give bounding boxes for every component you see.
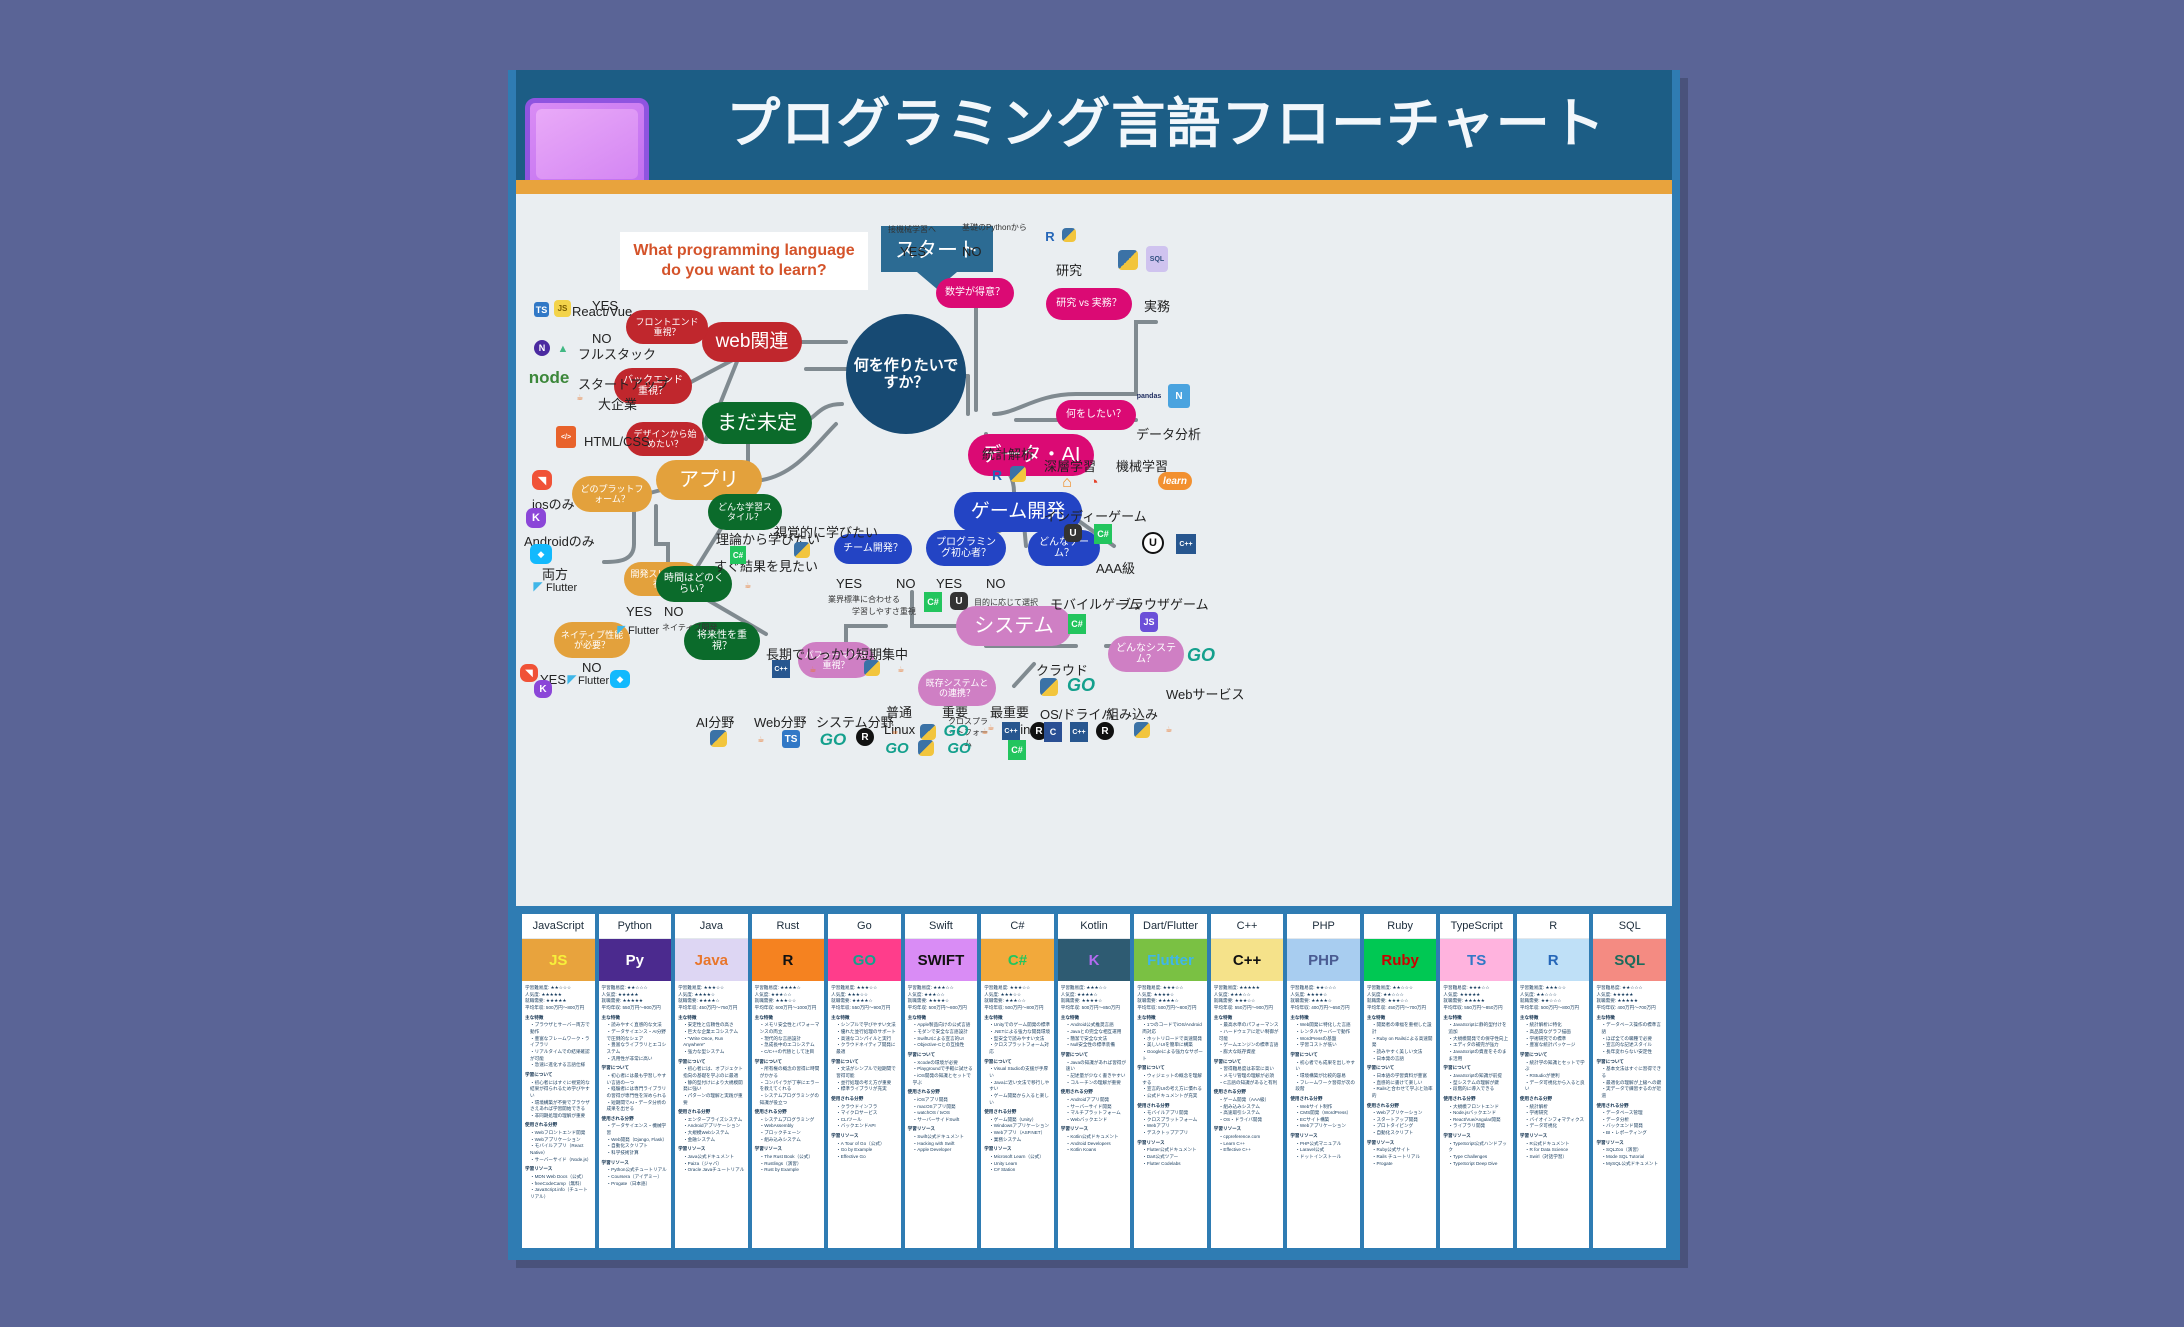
card-section-title: 主な特徴 <box>1596 1015 1663 1022</box>
language-card[interactable]: Dart/FlutterFlutter学習難易度: ★★★☆☆人気度: ★★★★… <box>1134 914 1207 1248</box>
card-list-item: Javaとの完全な相互運用 <box>1066 1029 1128 1036</box>
question-learning-style[interactable]: どんな学習スタイル？ <box>708 494 782 530</box>
card-section-title: 学習リソース <box>984 1146 1051 1153</box>
sql-icon-practice: SQL <box>1146 246 1168 272</box>
cpp-icon-aaa: C++ <box>1176 534 1196 554</box>
language-card-body: 学習難易度: ★★★☆☆人気度: ★★★★★就職需要: ★★★★★平均年収: 5… <box>1440 981 1513 1248</box>
stat-line: 平均年収: 450万円〜750万円 <box>678 1005 745 1012</box>
card-list-item: 習得難易度は非常に高い <box>1219 1066 1281 1073</box>
card-section-list: Swift公式ドキュメントHacking with SwiftApple Dev… <box>908 1134 975 1154</box>
stat-line: 平均年収: 500万円〜850万円 <box>1061 1005 1128 1012</box>
card-section-title: 使用される分野 <box>1367 1103 1434 1110</box>
card-section-title: 主な特徴 <box>602 1015 669 1022</box>
card-list-item: Web開発に特化した言語 <box>1295 1022 1357 1029</box>
language-card[interactable]: RR学習難易度: ★★★☆☆人気度: ★★☆☆☆就職需要: ★★☆☆☆平均年収:… <box>1517 914 1590 1248</box>
card-list-item: Apple Developer <box>913 1147 975 1154</box>
card-section-list: Apple製品向けの公式言語モダンで安全な言語設計SwiftUIによる宣言的UI… <box>908 1022 975 1049</box>
card-list-item: Unityでのゲーム開発の標準 <box>989 1022 1051 1029</box>
go-icon-web-service: GO <box>1184 646 1218 664</box>
card-list-item: Effective C++ <box>1219 1147 1281 1154</box>
stat-line: 平均年収: 550万円〜850万円 <box>1443 1005 1510 1012</box>
kotlin-icon-native: K <box>534 680 552 698</box>
card-list-item: freeCodeCamp（無料） <box>530 1181 592 1188</box>
stat-line: 学習難易度: ★★★☆☆ <box>908 985 975 992</box>
go-icon-system-field: GO <box>816 732 850 748</box>
language-card-body: 学習難易度: ★★★★★人気度: ★★★☆☆就職需要: ★★★☆☆平均年収: 5… <box>1211 981 1284 1248</box>
card-section-list: データベース管理データ分析バックエンド開発BI・レポーティング <box>1596 1110 1663 1137</box>
javascript-icon-browser: JS <box>1140 612 1158 632</box>
stat-line: 就職需要: ★★★☆☆ <box>1214 998 1281 1005</box>
label-no-speed: NO <box>664 604 684 619</box>
language-card[interactable]: C#C#学習難易度: ★★★☆☆人気度: ★★★☆☆就職需要: ★★★☆☆平均年… <box>981 914 1054 1248</box>
card-list-item: クラウドネイティブ開発に最適 <box>836 1042 898 1055</box>
language-card[interactable]: C++C++学習難易度: ★★★★★人気度: ★★★☆☆就職需要: ★★★☆☆平… <box>1211 914 1284 1248</box>
stat-line: 就職需要: ★★★★★ <box>1596 998 1663 1005</box>
card-list-item: Hacking with Swift <box>913 1141 975 1148</box>
card-list-item: 基本文法はすぐに習得できる <box>1601 1066 1663 1079</box>
branch-web[interactable]: web関連 <box>702 322 802 362</box>
card-section-title: 学習リソース <box>755 1146 822 1153</box>
card-section-title: 学習について <box>1290 1052 1357 1059</box>
card-list-item: 宣言的な記述スタイル <box>1601 1042 1663 1049</box>
card-list-item: クロスプラットフォーム <box>1142 1117 1204 1124</box>
card-list-item: 高速取引システム <box>1219 1110 1281 1117</box>
card-list-item: Progate <box>1372 1161 1434 1168</box>
language-card[interactable]: SwiftSWIFT学習難易度: ★★★☆☆人気度: ★★★☆☆就職需要: ★★… <box>905 914 978 1248</box>
typescript-icon-web-field: TS <box>782 730 800 748</box>
card-list-item: シンプルで学びやすい文法 <box>836 1022 898 1029</box>
card-section-title: 使用される分野 <box>602 1116 669 1123</box>
card-section-title: 使用される分野 <box>1443 1096 1510 1103</box>
card-section-title: 学習について <box>908 1052 975 1059</box>
card-list-item: マイクロサービス <box>836 1110 898 1117</box>
card-list-item: 読みやすく美しい文法 <box>1372 1049 1434 1056</box>
stat-line: 就職需要: ★★★★☆ <box>1137 998 1204 1005</box>
java-icon-short: ☕ <box>892 658 910 680</box>
card-list-item: 日本語の学習資料が豊富 <box>1372 1073 1434 1080</box>
card-list-item: 短期間でAI・データ分析の成果を出せる <box>607 1100 669 1113</box>
csharp-icon-mobile: C# <box>1068 614 1086 634</box>
swift-icon-ios: ◥ <box>532 470 552 490</box>
card-section-list: 初心者には、オブジェクト指向の基礎を学ぶのに最適静的型付けにより大規模開発に強い… <box>678 1066 745 1106</box>
language-card[interactable]: TypeScriptTS学習難易度: ★★★☆☆人気度: ★★★★★就職需要: … <box>1440 914 1513 1248</box>
language-card-title: SQL <box>1593 914 1666 939</box>
label-flutter-native: Flutter <box>578 675 609 687</box>
card-list-item: A Tour of Go（公式） <box>836 1141 898 1148</box>
card-list-item: Webバックエンド <box>1066 1117 1128 1124</box>
card-section-title: 学習について <box>1596 1059 1663 1066</box>
question-frontend[interactable]: フロントエンド重視？ <box>626 310 708 344</box>
card-section-list: Webフロントエンド開発Webアプリケーションモバイルアプリ（React Nat… <box>525 1130 592 1163</box>
card-list-item: 急速に進化する言語仕様 <box>530 1062 592 1069</box>
card-list-item: ハードウェアに近い制御が可能 <box>1219 1029 1281 1042</box>
stat-line: 平均年収: 550万円〜900万円 <box>831 1005 898 1012</box>
card-list-item: ブロックチェーン <box>760 1130 822 1137</box>
language-card[interactable]: GoGO学習難易度: ★★★☆☆人気度: ★★★☆☆就職需要: ★★★★☆平均年… <box>828 914 901 1248</box>
card-section-title: 学習リソース <box>1367 1140 1434 1147</box>
card-section-list: データベース操作の標準言語ほぼ全ての職種で必要宣言的な記述スタイル長年変わらない… <box>1596 1022 1663 1055</box>
card-section-list: Webサイト制作CMS開発（WordPress）ECサイト構築Webアプリケーシ… <box>1290 1104 1357 1131</box>
language-card[interactable]: PythonPy学習難易度: ★★☆☆☆人気度: ★★★★★就職需要: ★★★★… <box>599 914 672 1248</box>
card-list-item: 経験者には専門ライブラリの習得が専門性を深められる <box>607 1086 669 1099</box>
card-list-item: データ可視化から入ると良い <box>1525 1080 1587 1093</box>
java-icon-long: ☕ <box>804 658 822 680</box>
card-section-list: 統計学の知識とセットで学ぶRStudioが便利データ可視化から入ると良い <box>1520 1060 1587 1093</box>
card-section-list: 統計解析学術研究バイオインフォマティクスデータ可視化 <box>1520 1104 1587 1131</box>
label-yes-beginner: YES <box>936 576 962 591</box>
stat-line: 就職需要: ★★★★☆ <box>1290 998 1357 1005</box>
card-section-list: Android公式推奨言語Javaとの完全な相互運用簡潔で安全な文法Null安全… <box>1061 1022 1128 1049</box>
card-list-item: C# Station <box>989 1167 1051 1174</box>
language-logo-icon: GO <box>828 939 901 981</box>
card-list-item: ウィジェットの概念を理解する <box>1142 1073 1204 1086</box>
card-list-item: Windowsアプリケーション <box>989 1123 1051 1130</box>
card-list-item: リアルタイムでの結果確認が可能 <box>530 1049 592 1062</box>
pytorch-icon: ◔ <box>1086 474 1102 490</box>
card-section-list: Kotlin公式ドキュメントAndroid DevelopersKotlin K… <box>1061 1134 1128 1154</box>
language-card-title: Go <box>828 914 901 939</box>
card-section-title: 学習について <box>1367 1065 1434 1072</box>
card-section-title: 主な特徴 <box>1520 1015 1587 1022</box>
label-fullstack: フルスタック <box>578 344 656 363</box>
card-list-item: C言語の知識があると有利 <box>1219 1080 1281 1087</box>
card-section-list: システムプログラミングWebAssemblyブロックチェーン組み込みシステム <box>755 1117 822 1144</box>
cpp-icon-most: C++ <box>1002 722 1020 740</box>
card-list-item: Railsと合わせて学ぶと効率的 <box>1372 1086 1434 1099</box>
card-section-title: 使用される分野 <box>1596 1103 1663 1110</box>
page-title: プログラミング言語フローチャート <box>686 92 1646 156</box>
root-node[interactable]: 何を作りたいですか？ <box>846 314 966 434</box>
card-list-item: Webアプリケーション <box>1372 1110 1434 1117</box>
language-card[interactable]: RubyRuby学習難易度: ★★☆☆☆人気度: ★★☆☆☆就職需要: ★★★☆… <box>1364 914 1437 1248</box>
card-section-list: 日本語の学習資料が豊富直感的に書けて楽しいRailsと合わせて学ぶと効率的 <box>1367 1073 1434 1100</box>
stat-line: 平均年収: 500万円〜800万円 <box>1137 1005 1204 1012</box>
card-list-item: Node.jsバックエンド <box>1448 1110 1510 1117</box>
label-normal: 普通 <box>886 702 912 721</box>
flutter-icon-dev-speed: ◤ <box>616 624 627 635</box>
card-list-item: 記述量が少なく書きやすい <box>1066 1073 1128 1080</box>
intro-line-1: What programming language <box>633 242 854 259</box>
card-list-item: Javaの知識があれば習得が速い <box>1066 1060 1128 1073</box>
card-section-title: 学習について <box>1443 1065 1510 1072</box>
card-list-item: Microsoft Learn（公式） <box>989 1154 1051 1161</box>
card-list-item: データサイエンス・AI分野で圧倒的なシェア <box>607 1029 669 1042</box>
stat-line: 学習難易度: ★★★★☆ <box>755 985 822 992</box>
card-list-item: Progate（日本語） <box>607 1181 669 1188</box>
card-list-item: 読みやすく直感的な文法 <box>607 1022 669 1029</box>
card-list-item: ゲームエンジンの標準言語 <box>1219 1042 1281 1049</box>
card-list-item: 優れた並行処理のサポート <box>836 1029 898 1036</box>
card-list-item: 強力な型システム <box>683 1049 745 1056</box>
card-list-item: 環境構築が比較的容易 <box>1295 1073 1357 1080</box>
question-math[interactable]: 数学が得意？ <box>936 278 1014 308</box>
card-list-item: Webアプリ（ASP.NET） <box>989 1130 1051 1137</box>
card-section-title: 使用される分野 <box>678 1109 745 1116</box>
card-section-title: 使用される分野 <box>831 1096 898 1103</box>
card-list-item: マルチプラットフォーム <box>1066 1110 1128 1117</box>
card-section-list: 習得難易度は非常に高いメモリ管理の理解が必須C言語の知識があると有利 <box>1214 1066 1281 1086</box>
card-list-item: "Write Once, Run Anywhere" <box>683 1036 745 1049</box>
stat-line: 平均年収: 550万円〜900万円 <box>1214 1005 1281 1012</box>
card-section-title: 学習リソース <box>602 1160 669 1167</box>
language-logo-icon: PHP <box>1287 939 1360 981</box>
label-html-css: HTML/CSS <box>584 434 650 449</box>
stat-line: 平均年収: 450万円〜700万円 <box>1367 1005 1434 1012</box>
branch-undecided[interactable]: まだ未定 <box>702 402 812 444</box>
card-list-item: Coursera（アイデミー） <box>607 1174 669 1181</box>
card-list-item: ゲーム開発から入ると楽しい <box>989 1093 1051 1106</box>
stat-line: 学習難易度: ★★★☆☆ <box>678 985 745 992</box>
card-list-item: システムプログラミングの知識が役立つ <box>760 1093 822 1106</box>
language-card[interactable]: KotlinK学習難易度: ★★★☆☆人気度: ★★★★☆就職需要: ★★★★☆… <box>1058 914 1131 1248</box>
card-list-item: Googleによる強力なサポート <box>1142 1049 1204 1062</box>
card-list-item: TypeScript公式ハンドブック <box>1448 1141 1510 1154</box>
card-section-list: iOSアプリ開発macOSアプリ開発watchOS / tvOSサーバーサイドS… <box>908 1097 975 1124</box>
label-yes-math: YES <box>900 244 926 259</box>
card-section-title: 主な特徴 <box>755 1015 822 1022</box>
card-section-title: 使用される分野 <box>525 1122 592 1129</box>
poster: プログラミング言語フローチャート <box>508 70 1680 1260</box>
card-list-item: 1つのコードでiOS/Android両対応 <box>1142 1022 1204 1035</box>
card-list-item: ライブラリ開発 <box>1448 1123 1510 1130</box>
card-list-item: 所有権の概念の習得に時間がかかる <box>760 1066 822 1079</box>
language-card[interactable]: RustR学習難易度: ★★★★☆人気度: ★★★☆☆就職需要: ★★★☆☆平均… <box>752 914 825 1248</box>
card-section-title: 学習について <box>525 1072 592 1079</box>
question-legacy-integration[interactable]: 既存システムとの連携？ <box>918 670 996 706</box>
label-yes-speed: YES <box>626 604 652 619</box>
label-practice: 実務 <box>1144 296 1170 315</box>
card-section-title: 学習について <box>831 1059 898 1066</box>
label-react-vue: React/Vue <box>572 304 632 319</box>
card-section-list: Microsoft Learn（公式）Unity LearnC# Station <box>984 1154 1051 1174</box>
label-no-beginner: NO <box>986 576 1006 591</box>
card-section-title: 使用される分野 <box>755 1109 822 1116</box>
card-list-item: 初心者には最も学習しやすい言語の一つ <box>607 1073 669 1086</box>
question-beginner[interactable]: プログラミング初心者？ <box>926 530 1006 566</box>
question-research-vs-practice[interactable]: 研究 vs 実務？ <box>1046 288 1132 320</box>
label-ai-field: AI分野 <box>696 712 734 731</box>
question-what-to-do[interactable]: 何をしたい？ <box>1056 400 1136 430</box>
python-icon-ai-field: Py <box>710 730 727 747</box>
language-card-title: Java <box>675 914 748 939</box>
card-section-list: A Tour of Go（公式）Go by ExampleEffective G… <box>831 1141 898 1161</box>
stat-line: 学習難易度: ★★★☆☆ <box>831 985 898 992</box>
flowchart-canvas: What programming language do you want to… <box>516 194 1672 906</box>
card-list-item: Dart公式ツアー <box>1142 1154 1204 1161</box>
card-section-title: 学習リソース <box>1596 1140 1663 1147</box>
unreal-icon: U <box>1142 532 1164 554</box>
label-yes-team: YES <box>836 576 862 591</box>
card-list-item: 学術研究 <box>1525 1110 1587 1117</box>
language-card[interactable]: JavaScriptJS学習難易度: ★★☆☆☆人気度: ★★★★★就職需要: … <box>522 914 595 1248</box>
card-list-item: 組み込みシステム <box>760 1137 822 1144</box>
python-icon-top: Py <box>1062 228 1076 242</box>
csharp-icon-yes-beginner: C# <box>924 592 942 612</box>
c-icon-os: C <box>1044 722 1062 742</box>
card-section-list: Flutter公式ドキュメントDart公式ツアーFlutter Codelabs <box>1137 1147 1204 1167</box>
stat-line: 就職需要: ★★★☆☆ <box>984 998 1051 1005</box>
card-list-item: 段階的に導入できる <box>1448 1086 1510 1093</box>
language-card[interactable]: SQLSQL学習難易度: ★★☆☆☆人気度: ★★★★★就職需要: ★★★★★平… <box>1593 914 1666 1248</box>
stat-line: 就職需要: ★★★★★ <box>602 998 669 1005</box>
card-section-list: 初心者にはすぐに視覚的な結果が得られるため学びやすい環境構築が不要でブラウザさえ… <box>525 1080 592 1120</box>
card-list-item: 公式ドキュメントが充実 <box>1142 1093 1204 1100</box>
card-list-item: レンタルサーバーで動作 <box>1295 1029 1357 1036</box>
label-native-dev: ネイティブ開発 <box>662 622 717 633</box>
label-os-driver: OS/ドライバ <box>1040 704 1114 723</box>
label-python-basics: 基礎のPythonから <box>962 222 1027 233</box>
language-card-title: TypeScript <box>1440 914 1513 939</box>
card-section-title: 主な特徴 <box>678 1015 745 1022</box>
card-list-item: 自動化スクリプト <box>1372 1130 1434 1137</box>
card-section-list: ゲーム開発（Unity）WindowsアプリケーションWebアプリ（ASP.NE… <box>984 1117 1051 1144</box>
card-section-list: Ruby公式サイトRails チュートリアルProgate <box>1367 1147 1434 1167</box>
card-list-item: サーバーサイド開発 <box>1066 1104 1128 1111</box>
label-enterprise: 大企業 <box>598 394 637 413</box>
language-card[interactable]: PHPPHP学習難易度: ★★☆☆☆人気度: ★★★★☆就職需要: ★★★★☆平… <box>1287 914 1360 1248</box>
stat-line: 就職需要: ★★☆☆☆ <box>1520 998 1587 1005</box>
language-card-body: 学習難易度: ★★★☆☆人気度: ★★★★☆就職需要: ★★★★☆平均年収: 5… <box>1134 981 1207 1248</box>
card-list-item: データ可視化 <box>1525 1123 1587 1130</box>
card-section-title: 使用される分野 <box>1137 1103 1204 1110</box>
card-list-item: Learn C++ <box>1219 1141 1281 1148</box>
card-section-title: 使用される分野 <box>984 1109 1051 1116</box>
card-list-item: 最高水準のパフォーマンス <box>1219 1022 1281 1029</box>
card-section-title: 主な特徴 <box>1443 1015 1510 1022</box>
label-statistics: 統計解析 <box>982 444 1034 463</box>
card-list-item: 初心者には、オブジェクト指向の基礎を学ぶのに最適 <box>683 1066 745 1079</box>
card-list-item: Webアプリケーション <box>1295 1123 1357 1130</box>
card-section-title: 主な特徴 <box>984 1015 1051 1022</box>
card-section-title: 学習リソース <box>831 1133 898 1140</box>
question-what-system[interactable]: どんなシステム？ <box>1108 636 1184 672</box>
unity-icon-yes-beginner: U <box>950 592 968 610</box>
language-card-body: 学習難易度: ★★☆☆☆人気度: ★★★★★就職需要: ★★★★★平均年収: 4… <box>1593 981 1666 1248</box>
language-card[interactable]: JavaJava学習難易度: ★★★☆☆人気度: ★★★★☆就職需要: ★★★★… <box>675 914 748 1248</box>
scikit-learn-icon: learn <box>1158 472 1192 490</box>
label-research: 研究 <box>1056 260 1082 279</box>
card-list-item: OS・ドライバ開発 <box>1219 1117 1281 1124</box>
language-card-title: R <box>1517 914 1590 939</box>
card-list-item: モバイルアプリ開発 <box>1142 1110 1204 1117</box>
card-list-item: Swift公式ドキュメント <box>913 1134 975 1141</box>
label-no-team: NO <box>896 576 916 591</box>
card-section-title: 主な特徴 <box>1214 1015 1281 1022</box>
card-list-item: 豊富な統計パッケージ <box>1525 1042 1587 1049</box>
label-flutter-speed: Flutter <box>628 625 659 637</box>
stat-line: 学習難易度: ★★☆☆☆ <box>1367 985 1434 992</box>
card-section-list: The Rust Book（公式）Rustlings（演習）Rust by Ex… <box>755 1154 822 1174</box>
language-card-title: PHP <box>1287 914 1360 939</box>
label-aaa: AAA級 <box>1096 558 1135 577</box>
card-list-item: Androidアプリ開発 <box>1066 1097 1128 1104</box>
card-list-item: Unity Learn <box>989 1161 1051 1168</box>
card-list-item: メモリ管理の理解が必須 <box>1219 1073 1281 1080</box>
card-section-list: 1つのコードでiOS/Android両対応ホットリロードで高速開発美しいUIを簡… <box>1137 1022 1204 1062</box>
card-list-item: MDN Web Docs（公式） <box>530 1174 592 1181</box>
java-icon-web-field: ☕ <box>752 728 770 750</box>
stat-line: 平均年収: 400万円〜650万円 <box>1290 1005 1357 1012</box>
card-section-title: 主な特徴 <box>831 1015 898 1022</box>
card-list-item: Effective Go <box>836 1154 898 1161</box>
card-section-list: ゲーム開発（AAA級）組み込みシステム高速取引システムOS・ドライバ開発 <box>1214 1097 1281 1124</box>
card-section-list: MDN Web Docs（公式）freeCodeCamp（無料）JavaScri… <box>525 1174 592 1201</box>
card-section-title: 主な特徴 <box>1290 1015 1357 1022</box>
card-section-list: ウィジェットの概念を理解する宣言的UIの考え方に慣れる公式ドキュメントが充実 <box>1137 1073 1204 1100</box>
language-card-body: 学習難易度: ★★★☆☆人気度: ★★★☆☆就職需要: ★★★★☆平均年収: 5… <box>828 981 901 1248</box>
python-icon-visual: Py <box>794 542 810 558</box>
python-icon-practice: Py <box>1118 250 1138 270</box>
card-list-item: JavaScriptに静的型付けを追加 <box>1448 1022 1510 1035</box>
card-list-item: Rust by Example <box>760 1167 822 1174</box>
poster-header: プログラミング言語フローチャート <box>516 70 1672 180</box>
language-card-body: 学習難易度: ★★★☆☆人気度: ★★★★☆就職需要: ★★★★☆平均年収: 5… <box>1058 981 1131 1248</box>
question-platform[interactable]: どのプラットフォーム？ <box>572 476 652 512</box>
label-system-field: システム分野 <box>816 712 894 731</box>
stat-line: 平均年収: 400万円〜700万円 <box>1596 1005 1663 1012</box>
card-list-item: Javaに近い文法で移行しやすい <box>989 1080 1051 1093</box>
stat-line: 就職需要: ★★★★☆ <box>831 998 898 1005</box>
card-list-item: 文法がシンプルで短期間で習得可能 <box>836 1066 898 1079</box>
stat-line: 学習難易度: ★★★☆☆ <box>1443 985 1510 992</box>
label-no-math: NO <box>962 244 982 259</box>
card-list-item: Laravel公式 <box>1295 1147 1357 1154</box>
card-list-item: Flutter Codelabs <box>1142 1161 1204 1168</box>
card-section-list: クラウドインフラマイクロサービスCLIツールバックエンドAPI <box>831 1104 898 1131</box>
label-web-service: Webサービス <box>1166 684 1245 703</box>
card-list-item: 実データで練習するのが近道 <box>1601 1086 1663 1099</box>
card-list-item: サーバーサイド（Node.js） <box>530 1157 592 1164</box>
card-list-item: 大規模Webシステム <box>683 1130 745 1137</box>
card-list-item: コルーチンの理解が重要 <box>1066 1080 1128 1087</box>
card-list-item: iOSアプリ開発 <box>913 1097 975 1104</box>
card-section-title: 学習について <box>984 1059 1051 1066</box>
card-list-item: Swirl（対話学習） <box>1525 1154 1587 1161</box>
card-list-item: 膨大な既存資産 <box>1219 1049 1281 1056</box>
card-section-title: 学習リソース <box>525 1166 592 1173</box>
card-list-item: RStudioが便利 <box>1525 1073 1587 1080</box>
stat-line: 平均年収: 500万円〜800万円 <box>1520 1005 1587 1012</box>
card-section-list: モバイルアプリ開発クロスプラットフォームWebアプリデスクトップアプリ <box>1137 1110 1204 1137</box>
card-section-title: 主な特徴 <box>1061 1015 1128 1022</box>
dart-icon-no: ◆ <box>610 670 630 688</box>
label-industry-std: 業界標準に合わせる <box>828 594 900 605</box>
card-list-item: 金融システム <box>683 1137 745 1144</box>
card-list-item: Ruby on Railsによる高速開発 <box>1372 1036 1434 1049</box>
card-list-item: ブラウザとサーバー両方で動作 <box>530 1022 592 1035</box>
card-section-title: 学習について <box>1061 1052 1128 1059</box>
card-list-item: Android Developers <box>1066 1141 1128 1148</box>
card-list-item: MySQL公式ドキュメント <box>1601 1161 1663 1168</box>
stat-line: 平均年収: 550万円〜900万円 <box>602 1005 669 1012</box>
label-indie-game: インディーゲーム <box>1044 506 1147 525</box>
label-machine-learning: 機械学習 <box>1116 456 1168 475</box>
card-list-item: 開発者の幸福を重視した設計 <box>1372 1022 1434 1035</box>
card-list-item: SQLZoo（演習） <box>1601 1147 1663 1154</box>
card-section-list: cppreference.comLearn C++Effective C++ <box>1214 1134 1281 1154</box>
language-card-title: C# <box>981 914 1054 939</box>
card-section-list: SQLZoo（演習）Mode SQL TutorialMySQL公式ドキュメント <box>1596 1147 1663 1167</box>
card-section-title: 学習リソース <box>1061 1126 1128 1133</box>
card-list-item: 環境構築が不要でブラウザさえあれば学習開始できる <box>530 1100 592 1113</box>
language-logo-icon: Java <box>675 939 748 981</box>
card-list-item: 初心者にはすぐに視覚的な結果が得られるため学びやすい <box>530 1080 592 1100</box>
csharp-icon-windows: C# <box>1008 740 1026 760</box>
card-section-list: Visual Studioの支援が手厚いJavaに近い文法で移行しやすいゲーム開… <box>984 1066 1051 1106</box>
card-list-item: 業務システム <box>989 1137 1051 1144</box>
card-section-list: ブラウザとサーバー両方で動作豊富なフレームワーク・ライブラリリアルタイムでの結果… <box>525 1022 592 1069</box>
card-list-item: iOS開発の知識とセットで学ぶ <box>913 1073 975 1086</box>
